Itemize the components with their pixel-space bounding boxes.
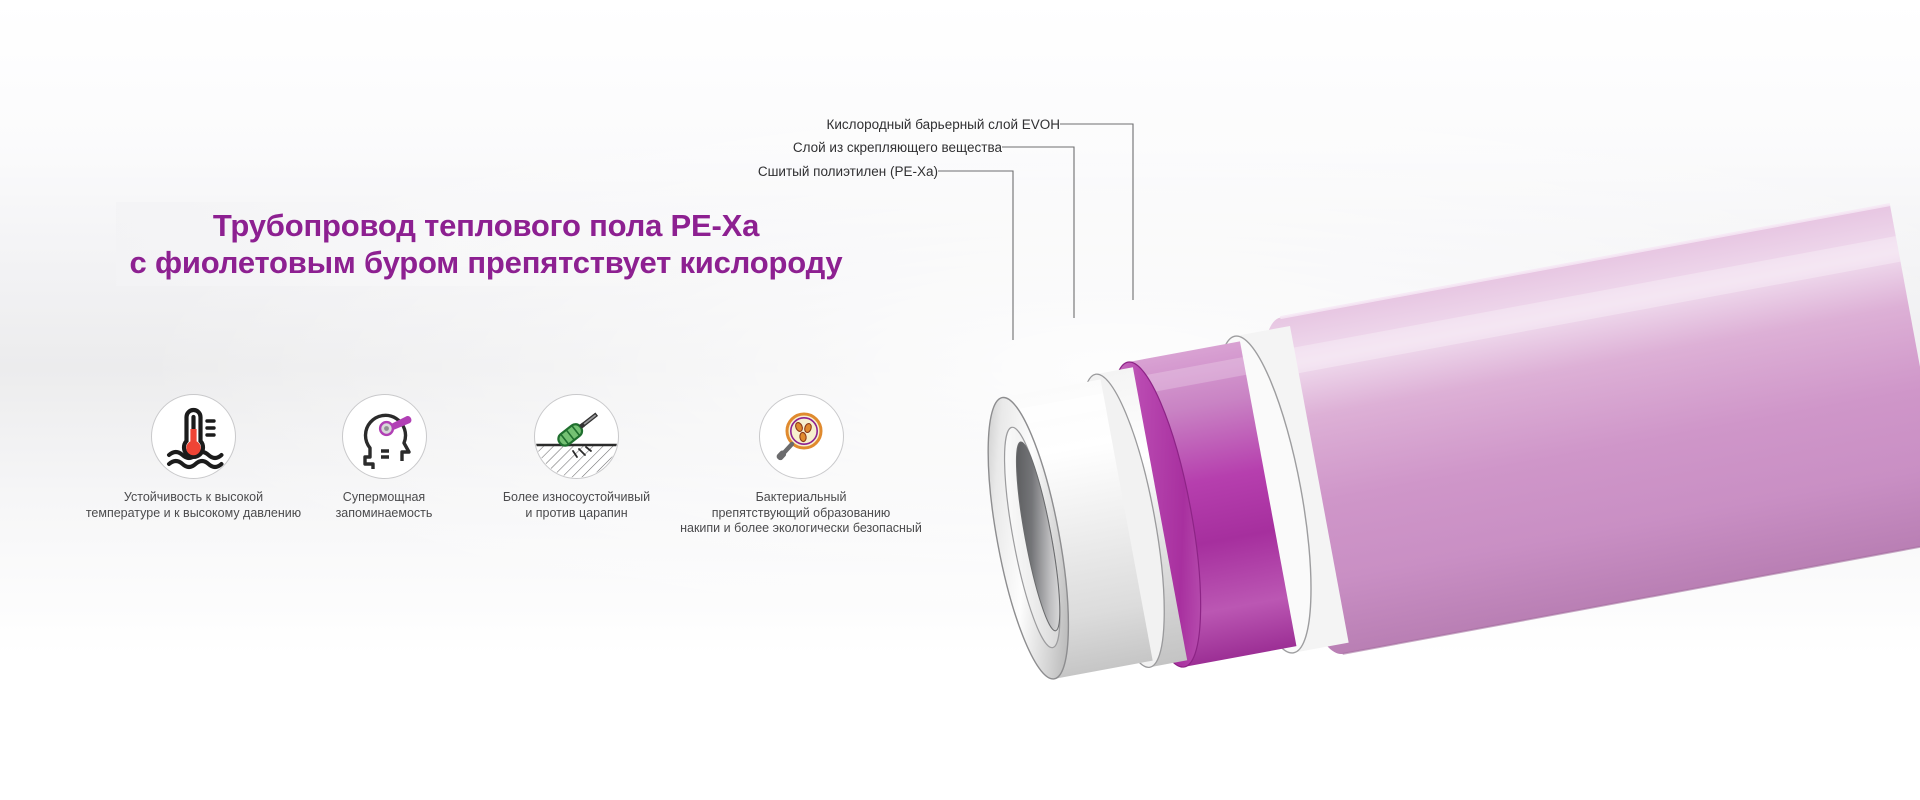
callout-leader-lines xyxy=(0,0,1920,800)
